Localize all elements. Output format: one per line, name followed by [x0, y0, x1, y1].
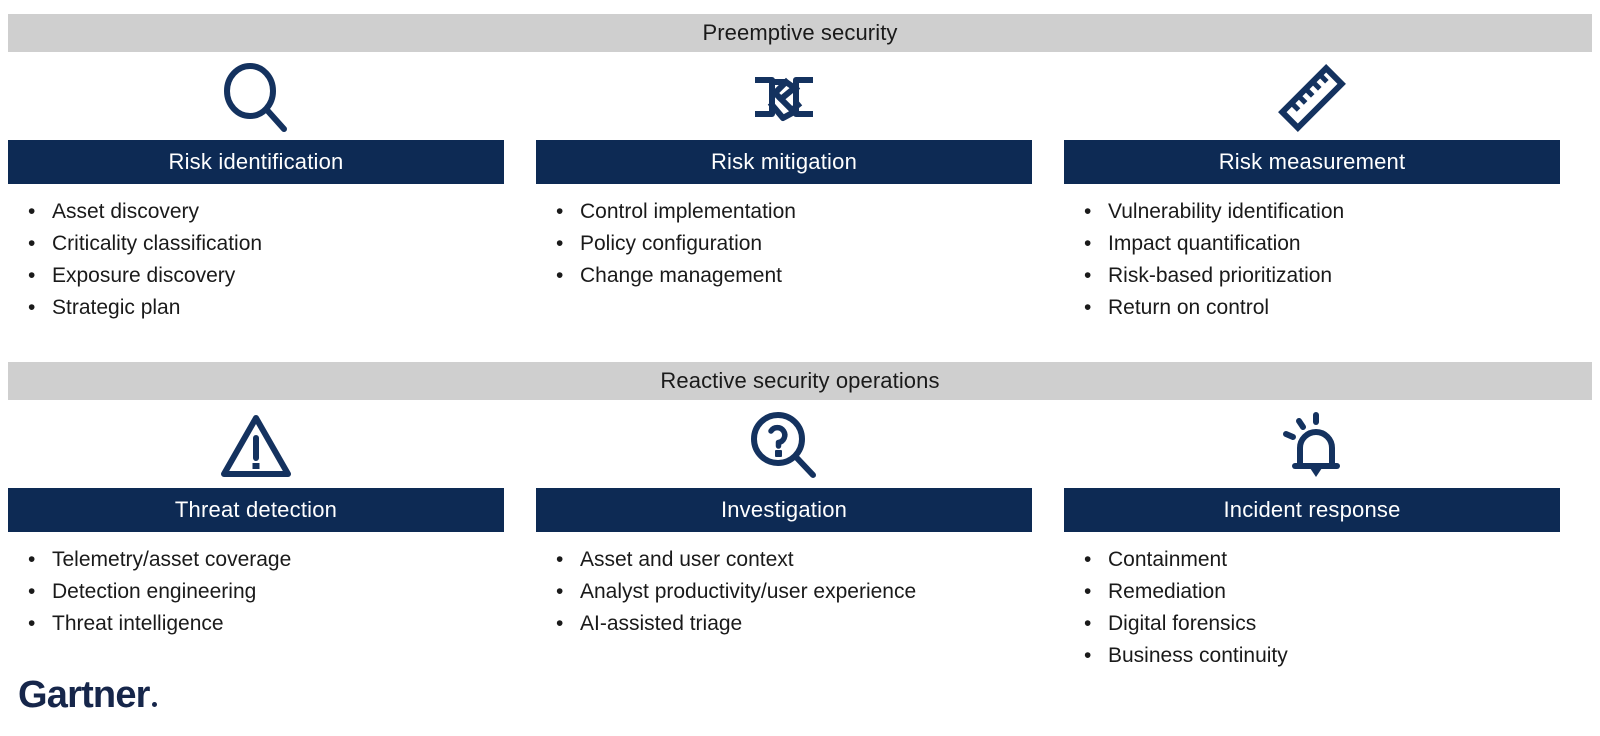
column-incident-response: Incident response Containment Remediatio…: [1064, 404, 1560, 672]
bullet-list: Asset discovery Criticality classificati…: [8, 196, 504, 324]
list-item: Threat intelligence: [22, 608, 504, 640]
diagram-slide: Preemptive security Risk identification …: [0, 0, 1600, 736]
bullet-list: Telemetry/asset coverage Detection engin…: [8, 544, 504, 640]
gartner-logo: Gartner: [18, 676, 157, 714]
section-band-label: Preemptive security: [702, 22, 897, 44]
list-item: Remediation: [1078, 576, 1560, 608]
column-title-bar: Investigation: [536, 488, 1032, 532]
ruler-icon: [1064, 56, 1560, 140]
bullet-list: Control implementation Policy configurat…: [536, 196, 1032, 292]
list-item: Impact quantification: [1078, 228, 1560, 260]
list-item: Business continuity: [1078, 640, 1560, 672]
list-item: Asset discovery: [22, 196, 504, 228]
list-item: Detection engineering: [22, 576, 504, 608]
section-columns-preemptive: Risk identification Asset discovery Crit…: [8, 56, 1592, 324]
column-title-bar: Risk measurement: [1064, 140, 1560, 184]
column-risk-measurement: Risk measurement Vulnerability identific…: [1064, 56, 1560, 324]
column-risk-mitigation: Risk mitigation Control implementation P…: [536, 56, 1032, 324]
column-title: Threat detection: [175, 499, 337, 521]
magnifier-icon: [8, 56, 504, 140]
section-columns-reactive: Threat detection Telemetry/asset coverag…: [8, 404, 1592, 672]
bullet-list: Containment Remediation Digital forensic…: [1064, 544, 1560, 672]
list-item: Analyst productivity/user experience: [550, 576, 1032, 608]
list-item: Risk-based prioritization: [1078, 260, 1560, 292]
column-title-bar: Risk mitigation: [536, 140, 1032, 184]
alert-bell-icon: [1064, 404, 1560, 488]
section-band-reactive: Reactive security operations: [8, 362, 1592, 400]
list-item: Change management: [550, 260, 1032, 292]
column-investigation: Investigation Asset and user context Ana…: [536, 404, 1032, 672]
section-band-preemptive: Preemptive security: [8, 14, 1592, 52]
list-item: Criticality classification: [22, 228, 504, 260]
column-title: Risk identification: [169, 151, 344, 173]
list-item: Telemetry/asset coverage: [22, 544, 504, 576]
list-item: Asset and user context: [550, 544, 1032, 576]
handshake-icon: [536, 56, 1032, 140]
list-item: Containment: [1078, 544, 1560, 576]
list-item: Strategic plan: [22, 292, 504, 324]
bullet-list: Vulnerability identification Impact quan…: [1064, 196, 1560, 324]
list-item: Digital forensics: [1078, 608, 1560, 640]
question-magnifier-icon: [536, 404, 1032, 488]
column-title: Risk mitigation: [711, 151, 857, 173]
warning-triangle-icon: [8, 404, 504, 488]
bullet-list: Asset and user context Analyst productiv…: [536, 544, 1032, 640]
gartner-logo-text: Gartner: [18, 674, 150, 716]
list-item: Exposure discovery: [22, 260, 504, 292]
column-title: Incident response: [1223, 499, 1400, 521]
column-title: Investigation: [721, 499, 847, 521]
list-item: Control implementation: [550, 196, 1032, 228]
list-item: Vulnerability identification: [1078, 196, 1560, 228]
column-title-bar: Incident response: [1064, 488, 1560, 532]
section-band-label: Reactive security operations: [660, 370, 939, 392]
gartner-logo-dot: [152, 702, 157, 707]
list-item: Policy configuration: [550, 228, 1032, 260]
column-threat-detection: Threat detection Telemetry/asset coverag…: [8, 404, 504, 672]
column-title-bar: Threat detection: [8, 488, 504, 532]
list-item: Return on control: [1078, 292, 1560, 324]
column-risk-identification: Risk identification Asset discovery Crit…: [8, 56, 504, 324]
column-title: Risk measurement: [1219, 151, 1406, 173]
list-item: AI-assisted triage: [550, 608, 1032, 640]
column-title-bar: Risk identification: [8, 140, 504, 184]
